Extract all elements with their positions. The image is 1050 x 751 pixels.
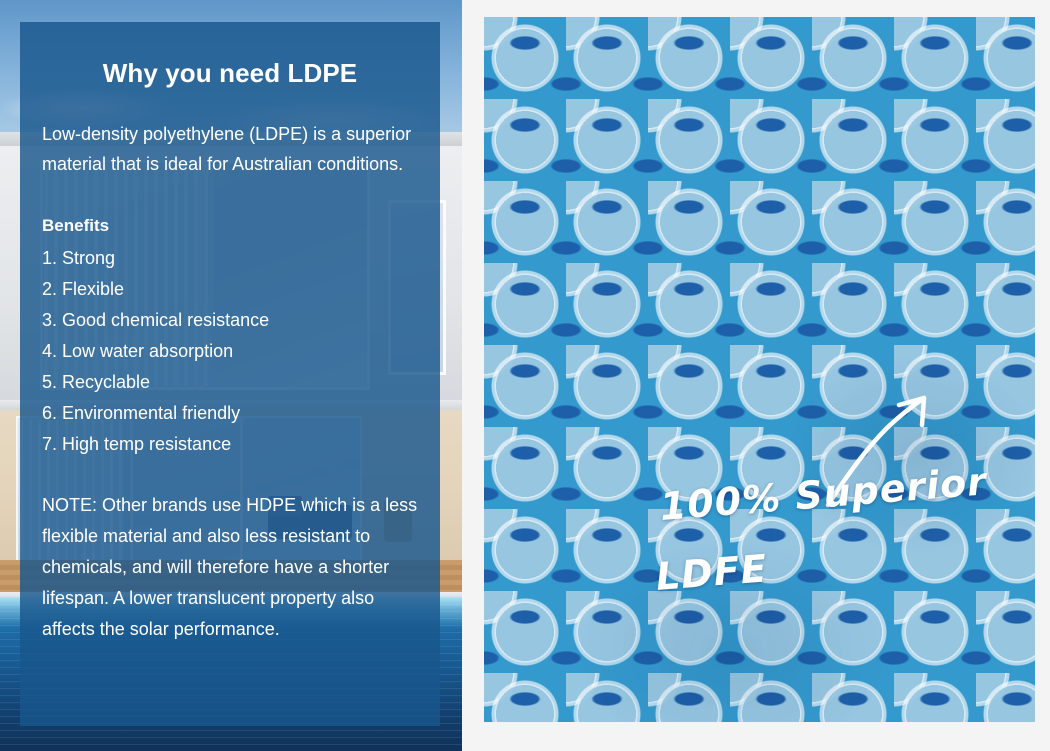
benefits-heading: Benefits bbox=[42, 213, 418, 239]
right-panel: 100% Superior LDFE bbox=[484, 0, 1050, 751]
panel-gutter bbox=[462, 0, 484, 751]
list-item: 3. Good chemical resistance bbox=[42, 305, 418, 336]
page-root: Why you need LDPE Low-density polyethyle… bbox=[0, 0, 1050, 751]
list-item: 6. Environmental friendly bbox=[42, 398, 418, 429]
list-item: 4. Low water absorption bbox=[42, 336, 418, 367]
list-item: 1. Strong bbox=[42, 243, 418, 274]
list-item: 5. Recyclable bbox=[42, 367, 418, 398]
left-panel: Why you need LDPE Low-density polyethyle… bbox=[0, 0, 462, 751]
intro-paragraph: Low-density polyethylene (LDPE) is a sup… bbox=[42, 119, 418, 179]
bubble-cover-photo: 100% Superior LDFE bbox=[484, 17, 1035, 722]
benefits-list: 1. Strong 2. Flexible 3. Good chemical r… bbox=[42, 243, 418, 460]
annotation-line-2: LDFE bbox=[654, 546, 769, 599]
info-card: Why you need LDPE Low-density polyethyle… bbox=[20, 22, 440, 726]
page-title: Why you need LDPE bbox=[42, 58, 418, 89]
note-paragraph: NOTE: Other brands use HDPE which is a l… bbox=[42, 490, 418, 645]
film-grain bbox=[484, 17, 1035, 722]
list-item: 7. High temp resistance bbox=[42, 429, 418, 460]
list-item: 2. Flexible bbox=[42, 274, 418, 305]
